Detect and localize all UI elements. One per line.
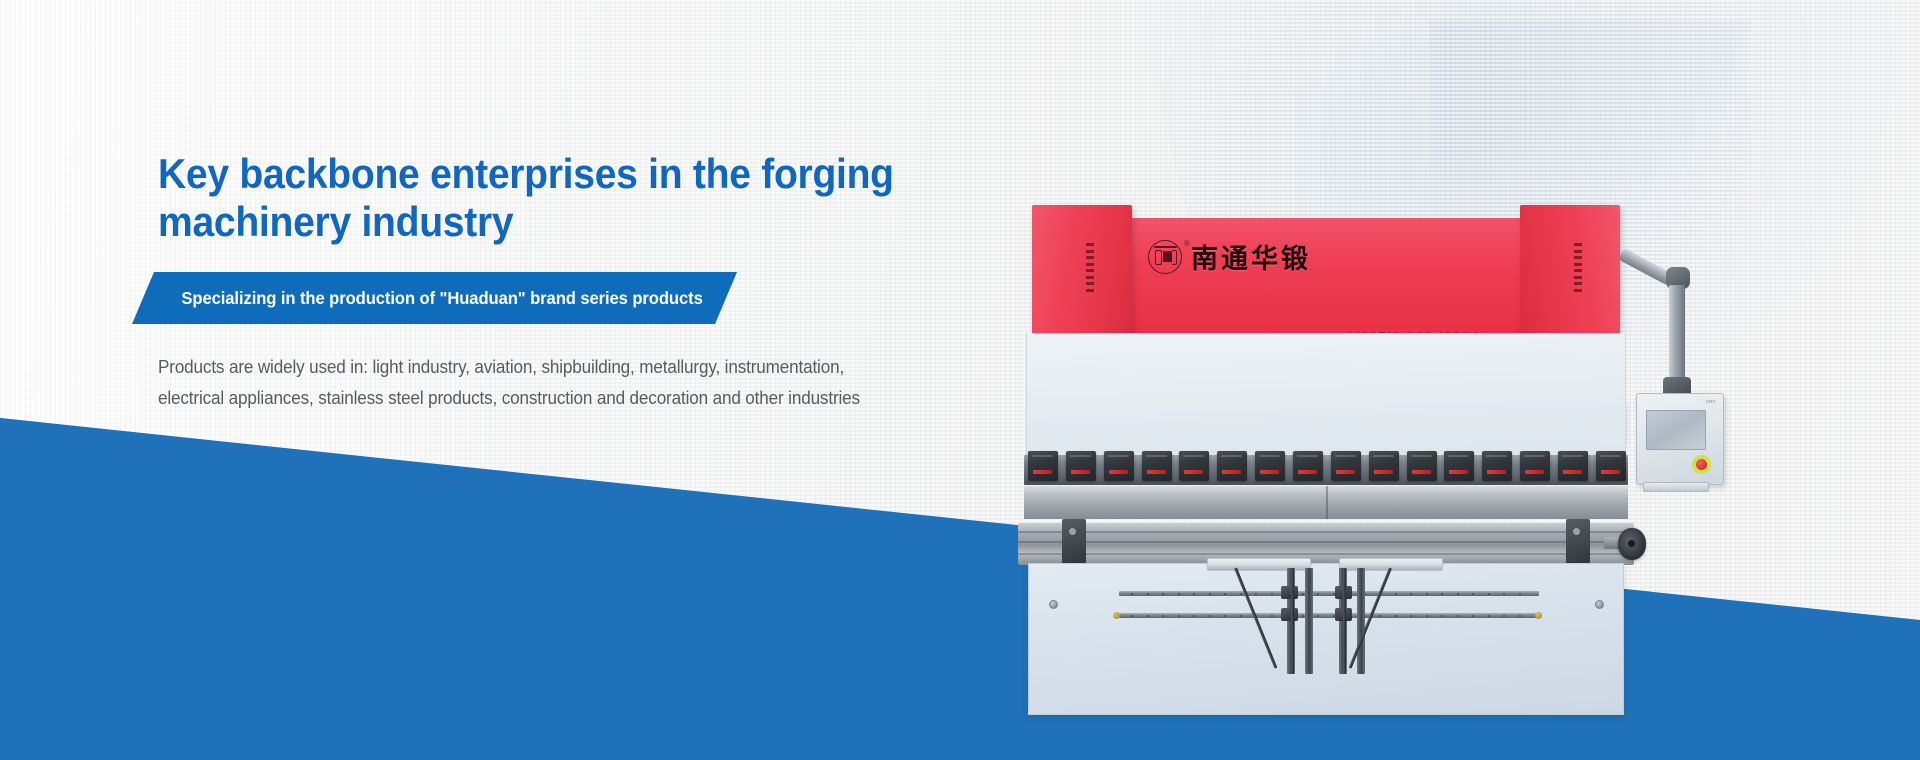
tool-clamp (1520, 451, 1550, 481)
tool-clamp-row (1028, 451, 1626, 481)
tool-clamp (1407, 451, 1437, 481)
vent-slots-left (1086, 243, 1094, 292)
page-title: Key backbone enterprises in the forging … (158, 150, 930, 246)
support-brace-right-2 (1343, 568, 1346, 674)
pendant-keyboard-tray (1643, 482, 1709, 492)
tool-clamp (1028, 451, 1058, 481)
tool-clamp (1179, 451, 1209, 481)
tool-clamp (1293, 451, 1323, 481)
lower-slide-rail (1018, 523, 1634, 565)
support-brace-left-1 (1234, 567, 1277, 668)
tool-clamp (1217, 451, 1247, 481)
support-brace-right-1 (1349, 567, 1392, 668)
rail-nut-right (1535, 612, 1542, 619)
gauge-clamp-2 (1281, 608, 1298, 621)
tool-clamp (1369, 451, 1399, 481)
rail-end-block-left (1062, 519, 1086, 569)
emergency-stop-icon (1692, 455, 1711, 474)
banner-copy: Key backbone enterprises in the forging … (158, 150, 988, 414)
pendant-arm-segment-lower (1669, 285, 1685, 383)
tagline-ribbon: Specializing in the production of "Huadu… (132, 272, 737, 324)
brand-name-label: 南通华锻 (1191, 237, 1311, 276)
body-bolt-right (1595, 600, 1604, 609)
tool-clamp (1255, 451, 1285, 481)
ribbon-label: Specializing in the production of "Huadu… (132, 272, 707, 324)
machine-lower-body-panel (1028, 563, 1624, 715)
tool-clamp (1558, 451, 1588, 481)
vent-slots-right (1574, 243, 1582, 292)
tool-clamp (1066, 451, 1096, 481)
banner-description: Products are widely used in: light indus… (158, 352, 880, 414)
cnc-control-pendant: CNC (1636, 393, 1724, 485)
tool-clamp (1596, 451, 1626, 481)
press-brake-machine-image: ® 南通华锻 WC67K-160/3200 CNC (1018, 205, 1658, 715)
backgauge-rail-lower (1119, 613, 1539, 618)
gauge-clamp-1 (1281, 586, 1298, 599)
support-brace-left-2 (1291, 568, 1294, 674)
pendant-display-screen (1646, 410, 1706, 450)
backgauge-finger-bar-left (1207, 558, 1311, 571)
tool-clamp (1444, 451, 1474, 481)
adjustment-handwheel (1618, 528, 1646, 560)
backgauge-post-right-2 (1357, 568, 1365, 674)
body-bolt-left (1049, 600, 1058, 609)
tool-clamp (1331, 451, 1361, 481)
machine-upper-body-panel (1026, 333, 1626, 463)
rail-end-block-right (1566, 519, 1590, 569)
hero-banner: Key backbone enterprises in the forging … (0, 0, 1920, 760)
backgauge-post-left-2 (1305, 568, 1313, 674)
machine-brand-block: ® 南通华锻 (1148, 237, 1311, 276)
tool-clamp (1482, 451, 1512, 481)
rail-nut-left (1113, 612, 1120, 619)
tool-clamp (1142, 451, 1172, 481)
company-logo-icon: ® (1148, 240, 1182, 274)
die-beam (1024, 485, 1628, 519)
pendant-brand-label: CNC (1706, 399, 1716, 404)
backgauge-rail-upper (1119, 591, 1539, 596)
registered-trademark-icon: ® (1184, 239, 1190, 248)
tool-clamp (1104, 451, 1134, 481)
